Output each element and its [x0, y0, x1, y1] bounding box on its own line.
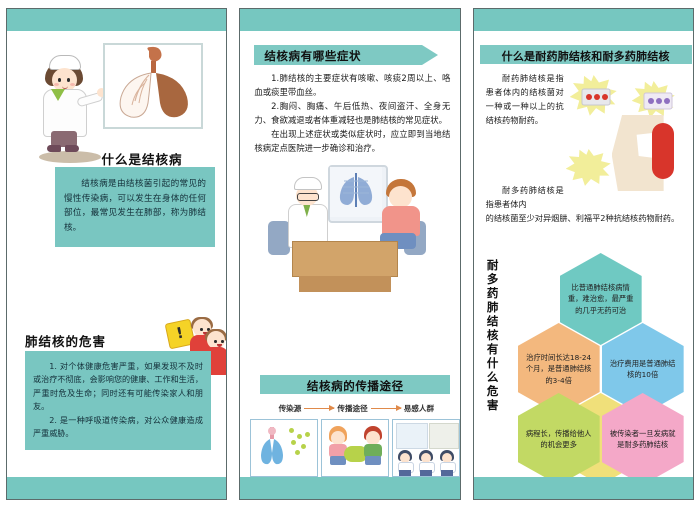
- symptoms-text-block: 1.肺结核的主要症状有咳嗽、咳痰2周以上、咯血或痰里带血丝。 2.胸闷、胸痛、午…: [254, 71, 450, 155]
- panel-1-bottom-bar: [7, 477, 226, 499]
- transmission-cards: 痰中带有结核杆菌的肺结核患者: [250, 419, 459, 477]
- pill-blister-icon: [580, 85, 614, 111]
- mdr-paragraph-rest: 的结核菌至少对异烟肼、利福平2种抗结核药物耐药。: [486, 213, 680, 223]
- eyeglasses-icon: [297, 193, 319, 201]
- mdr-paragraph-lead: 耐多药肺结核是指患者体内: [486, 183, 564, 211]
- panel-3-top-bar: [474, 9, 693, 31]
- transmission-card: 多患疾病、免疫力低下的人，如老年人、在校学生等: [392, 419, 459, 477]
- doctor-lungs-illustration: [17, 37, 222, 152]
- mdr-harms-hexagon-group: 比普通肺结核病情重，难治愈，最严重的几乎无药可治 治疗时间长达18-24个月，是…: [506, 253, 693, 477]
- starburst-shape: [566, 149, 612, 187]
- face-shape: [331, 431, 345, 445]
- elderly-person-image: [429, 423, 459, 449]
- panel-drug-resistant-tb: 什么是耐药肺结核和耐多药肺结核 耐药肺结核是指患者体内的结核菌对一种或一种以上的…: [467, 0, 700, 508]
- bacteria-dot: [295, 450, 300, 455]
- panel-what-is-tb: 什么是结核病 结核病是由结核菌引起的常见的慢性传染病，可以发生在身体的任何部位，…: [0, 0, 233, 508]
- pill-blister-icon: [642, 89, 676, 115]
- lungs-diagram-frame: [103, 43, 203, 129]
- transmission-card: 痰中带有结核杆菌的肺结核患者: [250, 419, 318, 477]
- bacteria-dot: [297, 434, 302, 439]
- tb-harms-text-box: 1. 对个体健康危害严重，如果发现不及时或治疗不彻底，会影响您的健康、工作和生活…: [25, 351, 211, 450]
- eye-left: [214, 340, 217, 343]
- flow-arrow-2: [371, 408, 401, 409]
- student-figure: [418, 450, 434, 476]
- bacteria-dot: [291, 440, 296, 445]
- banner-arrow-shape: [422, 45, 438, 65]
- page-title-what-is-tb: 什么是结核病: [67, 149, 217, 168]
- lungs-with-bacteria-icon: [259, 425, 285, 471]
- eye-right: [221, 340, 224, 343]
- boy-figure: [362, 426, 384, 470]
- eye-left: [58, 78, 61, 82]
- bacteria-dot: [305, 432, 310, 437]
- panel-1-body: 什么是结核病 结核病是由结核菌引起的常见的慢性传染病，可以发生在身体的任何部位，…: [7, 31, 226, 477]
- card-image-route: [321, 419, 389, 477]
- shorts-shape: [365, 456, 381, 465]
- what-is-tb-paragraph: 结核病是由结核菌引起的常见的慢性传染病，可以发生在身体的任何部位，最常见发生在肺…: [64, 177, 206, 235]
- panel-3-body: 什么是耐药肺结核和耐多药肺结核 耐药肺结核是指患者体内的结核菌对一种或一种以上的…: [474, 31, 693, 477]
- what-is-tb-text-box: 结核病是由结核菌引起的常见的慢性传染病，可以发生在身体的任何部位，最常见发生在肺…: [55, 167, 215, 247]
- student-figure: [439, 450, 455, 476]
- banner-drug-resistant-tb: 什么是耐药肺结核和耐多药肺结核: [480, 45, 692, 64]
- panel-3-bottom-bar: [474, 477, 693, 499]
- flow-arrow-1: [304, 408, 334, 409]
- card-image-source: [250, 419, 318, 477]
- flow-label-route: 传播途径: [337, 403, 367, 414]
- sick-person-in-bed-image: [396, 423, 428, 449]
- tb-harms-item-2: 2. 是一种呼吸道传染病，对公众健康造成严重威胁。: [33, 414, 203, 441]
- skirt-shape: [420, 470, 432, 476]
- face-shape: [389, 186, 412, 208]
- drug-resistance-illustration: [566, 71, 692, 201]
- cheek-left: [54, 83, 59, 86]
- doctor-cap-icon: [294, 177, 322, 190]
- vertical-section-title-mdr-harms: 耐多药肺结核有什么危害: [482, 259, 504, 459]
- banner-transmission: 结核病的传播途径: [260, 375, 450, 394]
- face-shape: [366, 431, 380, 445]
- shirt-shape: [382, 206, 420, 236]
- card-image-susceptible: [392, 419, 459, 477]
- flow-label-source: 传染源: [279, 403, 302, 414]
- transmission-card: 健康人吸入带有结核菌的飞沫: [321, 419, 389, 477]
- section-title-tb-harms: 肺结核的危害: [25, 331, 106, 350]
- hexagon-harm-2-text: 治疗时间长达18-24个月，是普通肺结核的3-4倍: [524, 352, 594, 387]
- trifold-brochure: 什么是结核病 结核病是由结核菌引起的常见的慢性传染病，可以发生在身体的任何部位，…: [0, 0, 700, 508]
- bacteria-dot: [289, 428, 294, 433]
- panel-3-frame: 什么是耐药肺结核和耐多药肺结核 耐药肺结核是指患者体内的结核菌对一种或一种以上的…: [473, 8, 694, 500]
- banner-symptoms-label: 结核病有哪些症状: [264, 48, 361, 64]
- eye-right: [67, 78, 70, 82]
- panel-2-top-bar: [240, 9, 459, 31]
- female-doctor-figure: [37, 55, 93, 151]
- panel-2-bottom-bar: [240, 477, 459, 499]
- panel-symptoms-and-transmission: 结核病有哪些症状 1.肺结核的主要症状有咳嗽、咳痰2周以上、咯血或痰里带血丝。 …: [233, 0, 466, 508]
- hexagon-harm-1-text: 比普通肺结核病情重，难治愈，最严重的几乎无药可治: [566, 282, 636, 317]
- banner-transmission-label: 结核病的传播途径: [307, 379, 404, 393]
- chest-xray-image: [330, 167, 382, 217]
- panel-2-body: 结核病有哪些症状 1.肺结核的主要症状有咳嗽、咳痰2周以上、咯血或痰里带血丝。 …: [240, 31, 459, 477]
- panel-1-frame: 什么是结核病 结核病是由结核菌引起的常见的慢性传染病，可以发生在身体的任何部位，…: [6, 8, 227, 500]
- desk-shape: [292, 241, 398, 277]
- mdr-definition-lead: 耐多药肺结核是指患者体内: [486, 183, 564, 211]
- symptom-item-3: 在出现上述症状或类似症状时，应立即到当地结核病定点医院进一步确诊和治疗。: [254, 127, 450, 155]
- student-figure: [397, 450, 413, 476]
- panel-1-top-bar: [7, 9, 226, 31]
- hexagon-harm-4-text: 病程长，传播给他人的机会更多: [524, 428, 594, 451]
- symptom-item-2: 2.胸闷、胸痛、午后低热、夜间盗汗、全身无力、食欲减退或者体重减轻也是肺结核的常…: [254, 99, 450, 127]
- doctor-figure: [286, 177, 328, 249]
- bacteria-dot: [301, 444, 306, 449]
- hexagon-harm-3-text: 治疗费用是普通肺结核的10倍: [608, 358, 678, 381]
- cheek-right: [70, 83, 75, 86]
- skirt-shape: [441, 470, 453, 476]
- symptom-item-1: 1.肺结核的主要症状有咳嗽、咳痰2周以上、咯血或痰里带血丝。: [254, 71, 450, 99]
- mdr-definition-rest: 的结核菌至少对异烟肼、利福平2种抗结核药物耐药。: [486, 211, 686, 225]
- panel-2-frame: 结核病有哪些症状 1.肺结核的主要症状有咳嗽、咳痰2周以上、咯血或痰里带血丝。 …: [239, 8, 460, 500]
- lab-coat-shape: [43, 89, 87, 137]
- hexagon-harm-5-text: 被传染者一旦发病就是耐多药肺结核: [608, 428, 678, 451]
- drug-resistant-definition: 耐药肺结核是指患者体内的结核菌对一种或一种以上的抗结核药物耐药。: [486, 71, 564, 127]
- lungs-anatomy-icon: [105, 45, 201, 127]
- clinic-consultation-illustration: [262, 159, 442, 289]
- banner-symptoms: 结核病有哪些症状: [254, 45, 422, 65]
- drug-resistant-paragraph: 耐药肺结核是指患者体内的结核菌对一种或一种以上的抗结核药物耐药。: [486, 71, 564, 127]
- tb-harms-item-1: 1. 对个体健康危害严重，如果发现不及时或治疗不彻底，会影响您的健康、工作和生活…: [33, 360, 203, 414]
- flow-label-susceptible: 易感人群: [404, 403, 434, 414]
- banner-drug-resistant-label: 什么是耐药肺结核和耐多药肺结核: [502, 50, 670, 63]
- shoe-left: [47, 145, 61, 152]
- transmission-flow-labels: 传染源 传播途径 易感人群: [252, 403, 459, 414]
- bacterium-figure: [652, 123, 674, 179]
- skirt-shape: [399, 470, 411, 476]
